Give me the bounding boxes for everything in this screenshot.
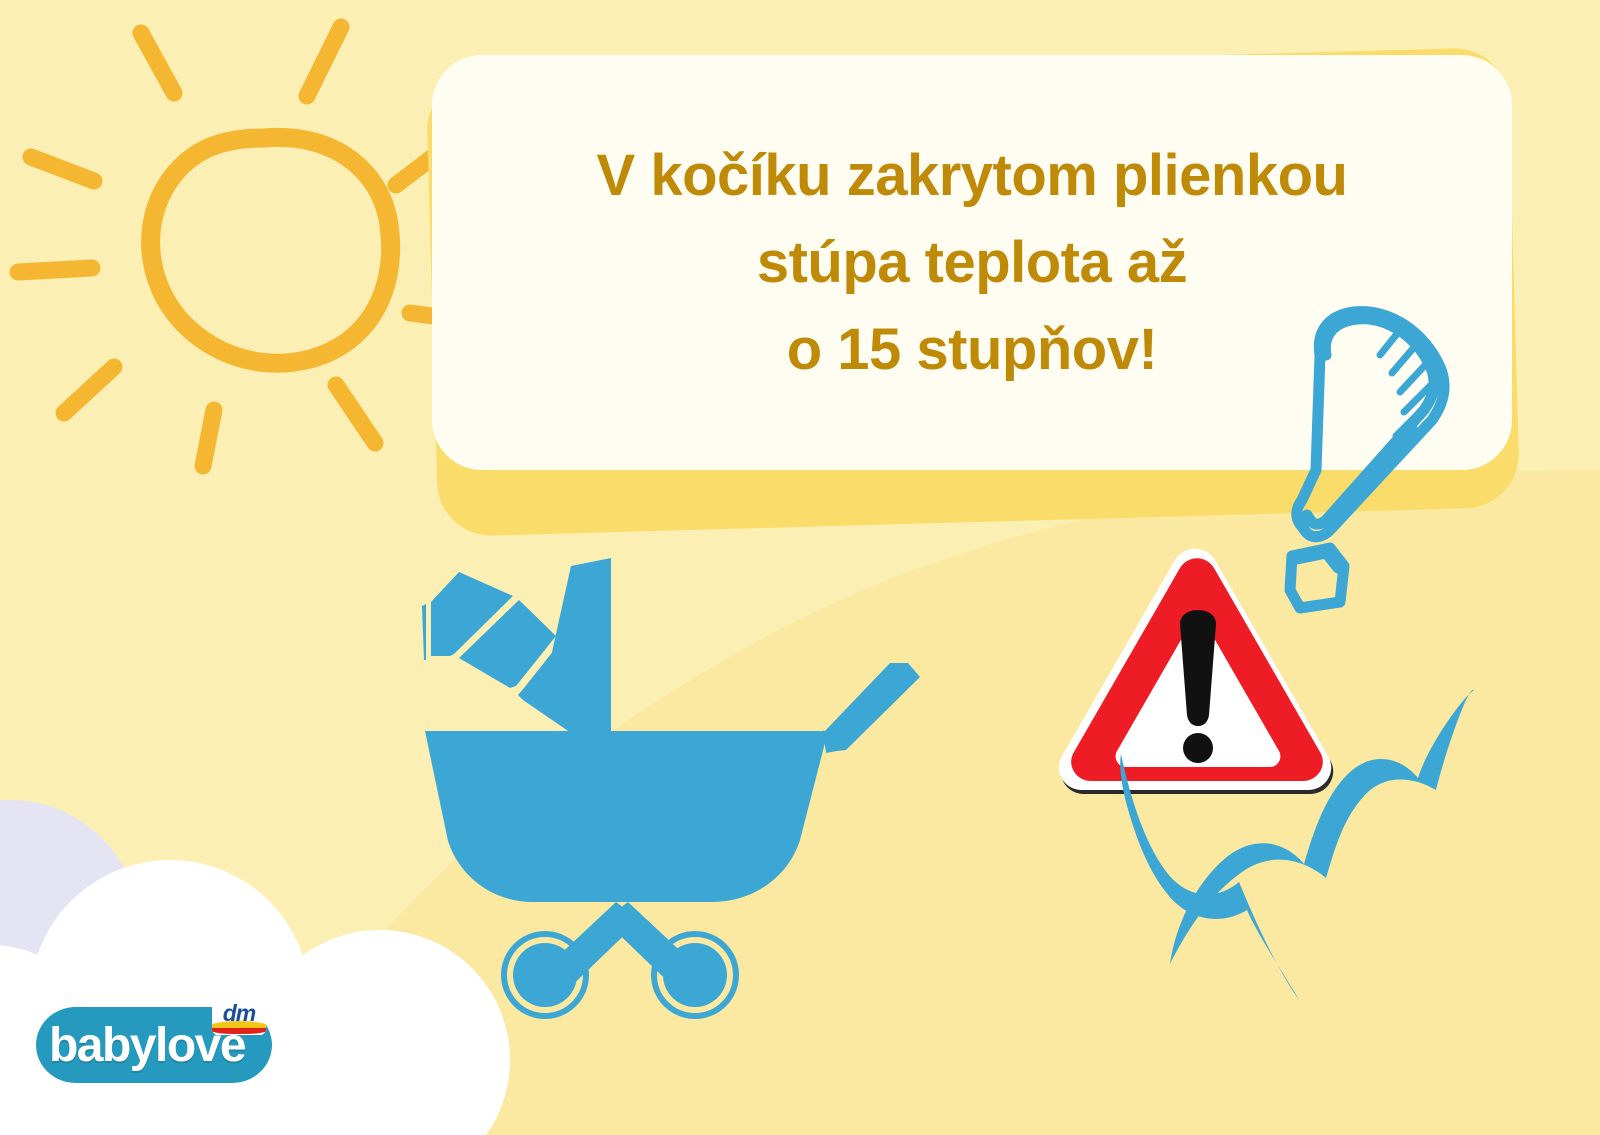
babylove-logo[interactable]: babylove dm [36, 1007, 272, 1083]
dm-badge: dm [212, 1001, 266, 1035]
cloud-white-shape [0, 860, 510, 1135]
dm-badge-label: dm [223, 1001, 256, 1025]
cloud-cluster [0, 0, 1600, 1135]
poster-canvas: V kočíku zakrytom plienkou stúpa teplota… [0, 0, 1600, 1135]
